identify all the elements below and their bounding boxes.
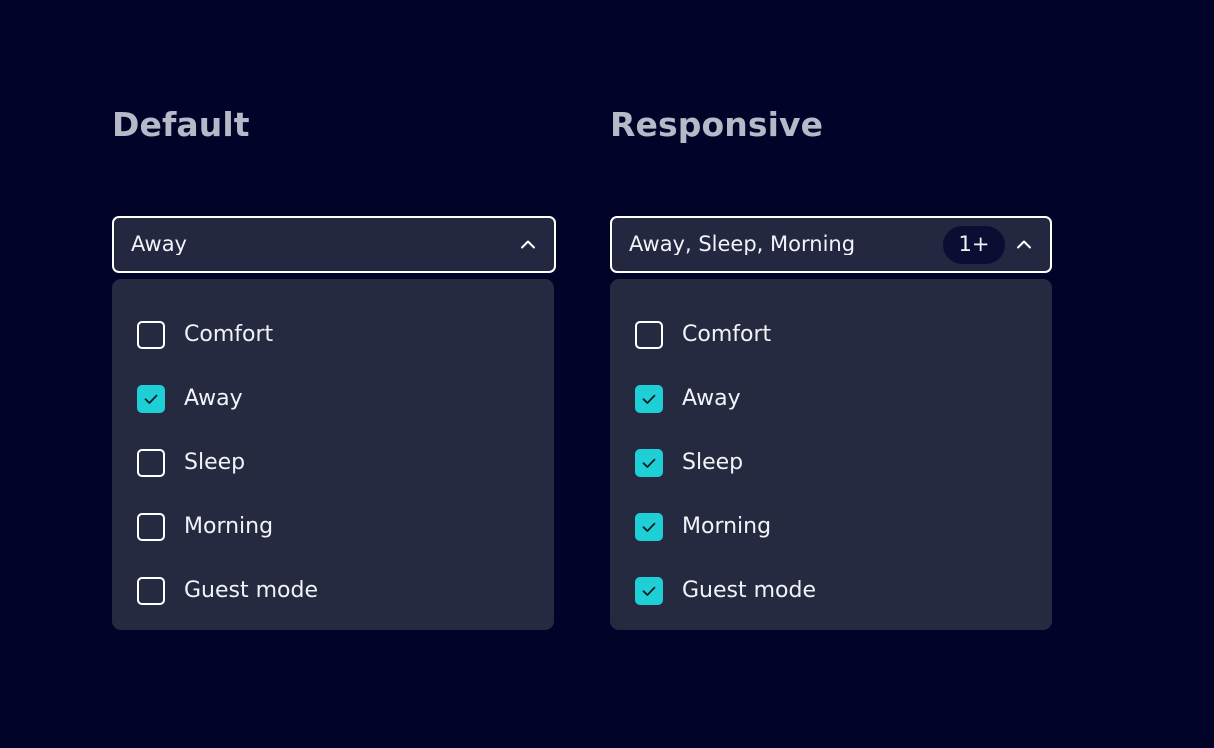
- list-item-label: Morning: [184, 516, 273, 538]
- select-value-default: Away: [131, 234, 515, 255]
- checkbox-morning[interactable]: [137, 513, 165, 541]
- list-item[interactable]: Sleep: [610, 431, 1052, 495]
- list-item-label: Comfort: [682, 324, 771, 346]
- list-item[interactable]: Away: [112, 367, 554, 431]
- checkbox-guest-mode[interactable]: [635, 577, 663, 605]
- chevron-up-icon[interactable]: [515, 232, 541, 258]
- checkbox-sleep[interactable]: [635, 449, 663, 477]
- list-item[interactable]: Guest mode: [112, 559, 554, 623]
- checkbox-comfort[interactable]: [635, 321, 663, 349]
- select-trigger-default[interactable]: Away: [112, 216, 556, 273]
- list-item-label: Morning: [682, 516, 771, 538]
- page-title-responsive: Responsive: [610, 105, 823, 144]
- list-item-label: Guest mode: [184, 580, 318, 602]
- list-item-label: Guest mode: [682, 580, 816, 602]
- list-item-label: Away: [184, 388, 243, 410]
- checkbox-guest-mode[interactable]: [137, 577, 165, 605]
- options-panel-responsive: Comfort Away Sleep: [610, 279, 1052, 630]
- list-item[interactable]: Away: [610, 367, 1052, 431]
- list-item[interactable]: Comfort: [610, 303, 1052, 367]
- list-item[interactable]: Sleep: [112, 431, 554, 495]
- list-item[interactable]: Morning: [112, 495, 554, 559]
- checkbox-comfort[interactable]: [137, 321, 165, 349]
- options-panel-default: Comfort Away Sleep: [112, 279, 554, 630]
- list-item-label: Sleep: [184, 452, 245, 474]
- checkbox-sleep[interactable]: [137, 449, 165, 477]
- page-title-default: Default: [112, 105, 250, 144]
- list-item-label: Comfort: [184, 324, 273, 346]
- checkbox-away[interactable]: [635, 385, 663, 413]
- stage: Default Away Comfort: [0, 0, 1214, 748]
- select-trigger-responsive[interactable]: Away, Sleep, Morning 1+: [610, 216, 1052, 273]
- select-value-responsive: Away, Sleep, Morning: [629, 234, 943, 255]
- status-badge: 1+: [943, 226, 1005, 264]
- checkbox-morning[interactable]: [635, 513, 663, 541]
- checkbox-away[interactable]: [137, 385, 165, 413]
- list-item-label: Sleep: [682, 452, 743, 474]
- chevron-up-icon[interactable]: [1011, 232, 1037, 258]
- list-item[interactable]: Morning: [610, 495, 1052, 559]
- list-item-label: Away: [682, 388, 741, 410]
- list-item[interactable]: Guest mode: [610, 559, 1052, 623]
- list-item[interactable]: Comfort: [112, 303, 554, 367]
